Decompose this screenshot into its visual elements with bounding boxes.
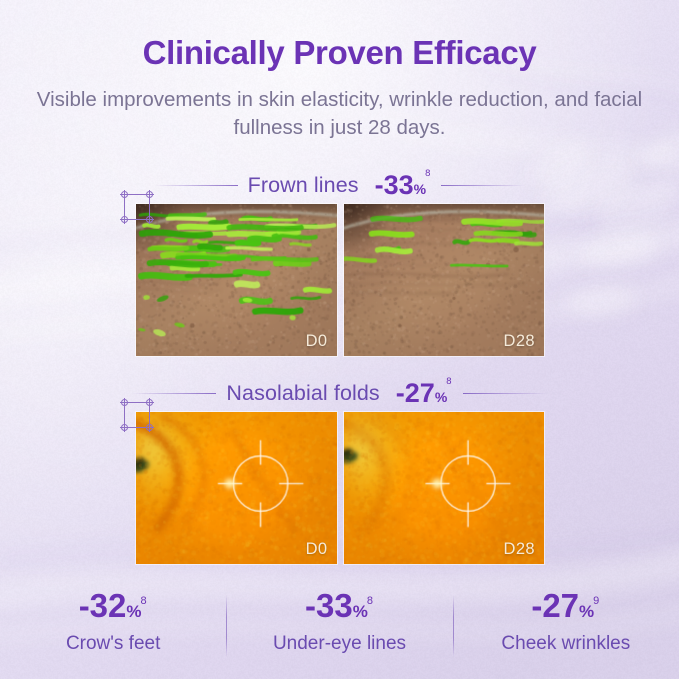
page-subtitle: Visible improvements in skin elasticity,… (0, 86, 679, 142)
comparison-group-frown-lines: D0 D28 (120, 190, 560, 370)
stat-value-footnote: 8 (367, 595, 373, 607)
rule-left (154, 185, 238, 186)
panel-after-frown[interactable]: D28 (343, 203, 546, 357)
rule-right (463, 393, 547, 394)
stat-value-percent: % (579, 602, 594, 621)
comparison-group-nasolabial-folds: D0 D28 (120, 398, 560, 578)
stat-label: Cheek wrinkles (501, 633, 630, 655)
stat-under-eye-lines: -33%8 Under-eye lines (226, 586, 452, 664)
rule-left (132, 393, 216, 394)
stat-value-number: -33 (305, 587, 353, 624)
stat-value-number: -27 (531, 587, 579, 624)
stat-label: Under-eye lines (273, 633, 406, 655)
stat-value: -33%8 (305, 586, 374, 634)
stats-row: -32%8 Crow's feet -33%8 Under-eye lines … (0, 586, 679, 664)
stat-value: -27%9 (531, 586, 600, 634)
stat-value-percent: % (126, 602, 141, 621)
rule-right (441, 185, 525, 186)
stat-value-percent: % (353, 602, 368, 621)
stat-value-footnote: 9 (593, 595, 599, 607)
stat-value-footnote: 8 (141, 595, 147, 607)
panel-before-nasolabial[interactable]: D0 (135, 411, 338, 565)
page-title: Clinically Proven Efficacy (0, 34, 679, 72)
panel-before-frown[interactable]: D0 (135, 203, 338, 357)
panel-tag-before: D0 (306, 332, 328, 351)
stat-value: -32%8 (79, 586, 148, 634)
panel-tag-after: D28 (504, 332, 535, 351)
panel-after-nasolabial[interactable]: D28 (343, 411, 546, 565)
stat-cheek-wrinkles: -27%9 Cheek wrinkles (453, 586, 679, 664)
panel-tag-before: D0 (306, 540, 328, 559)
stat-crows-feet: -32%8 Crow's feet (0, 586, 226, 664)
stat-value-number: -32 (79, 587, 127, 624)
stat-label: Crow's feet (66, 633, 160, 655)
section-value-footnote: 8 (446, 376, 451, 387)
section-value-footnote: 8 (425, 168, 430, 179)
panel-tag-after: D28 (504, 540, 535, 559)
